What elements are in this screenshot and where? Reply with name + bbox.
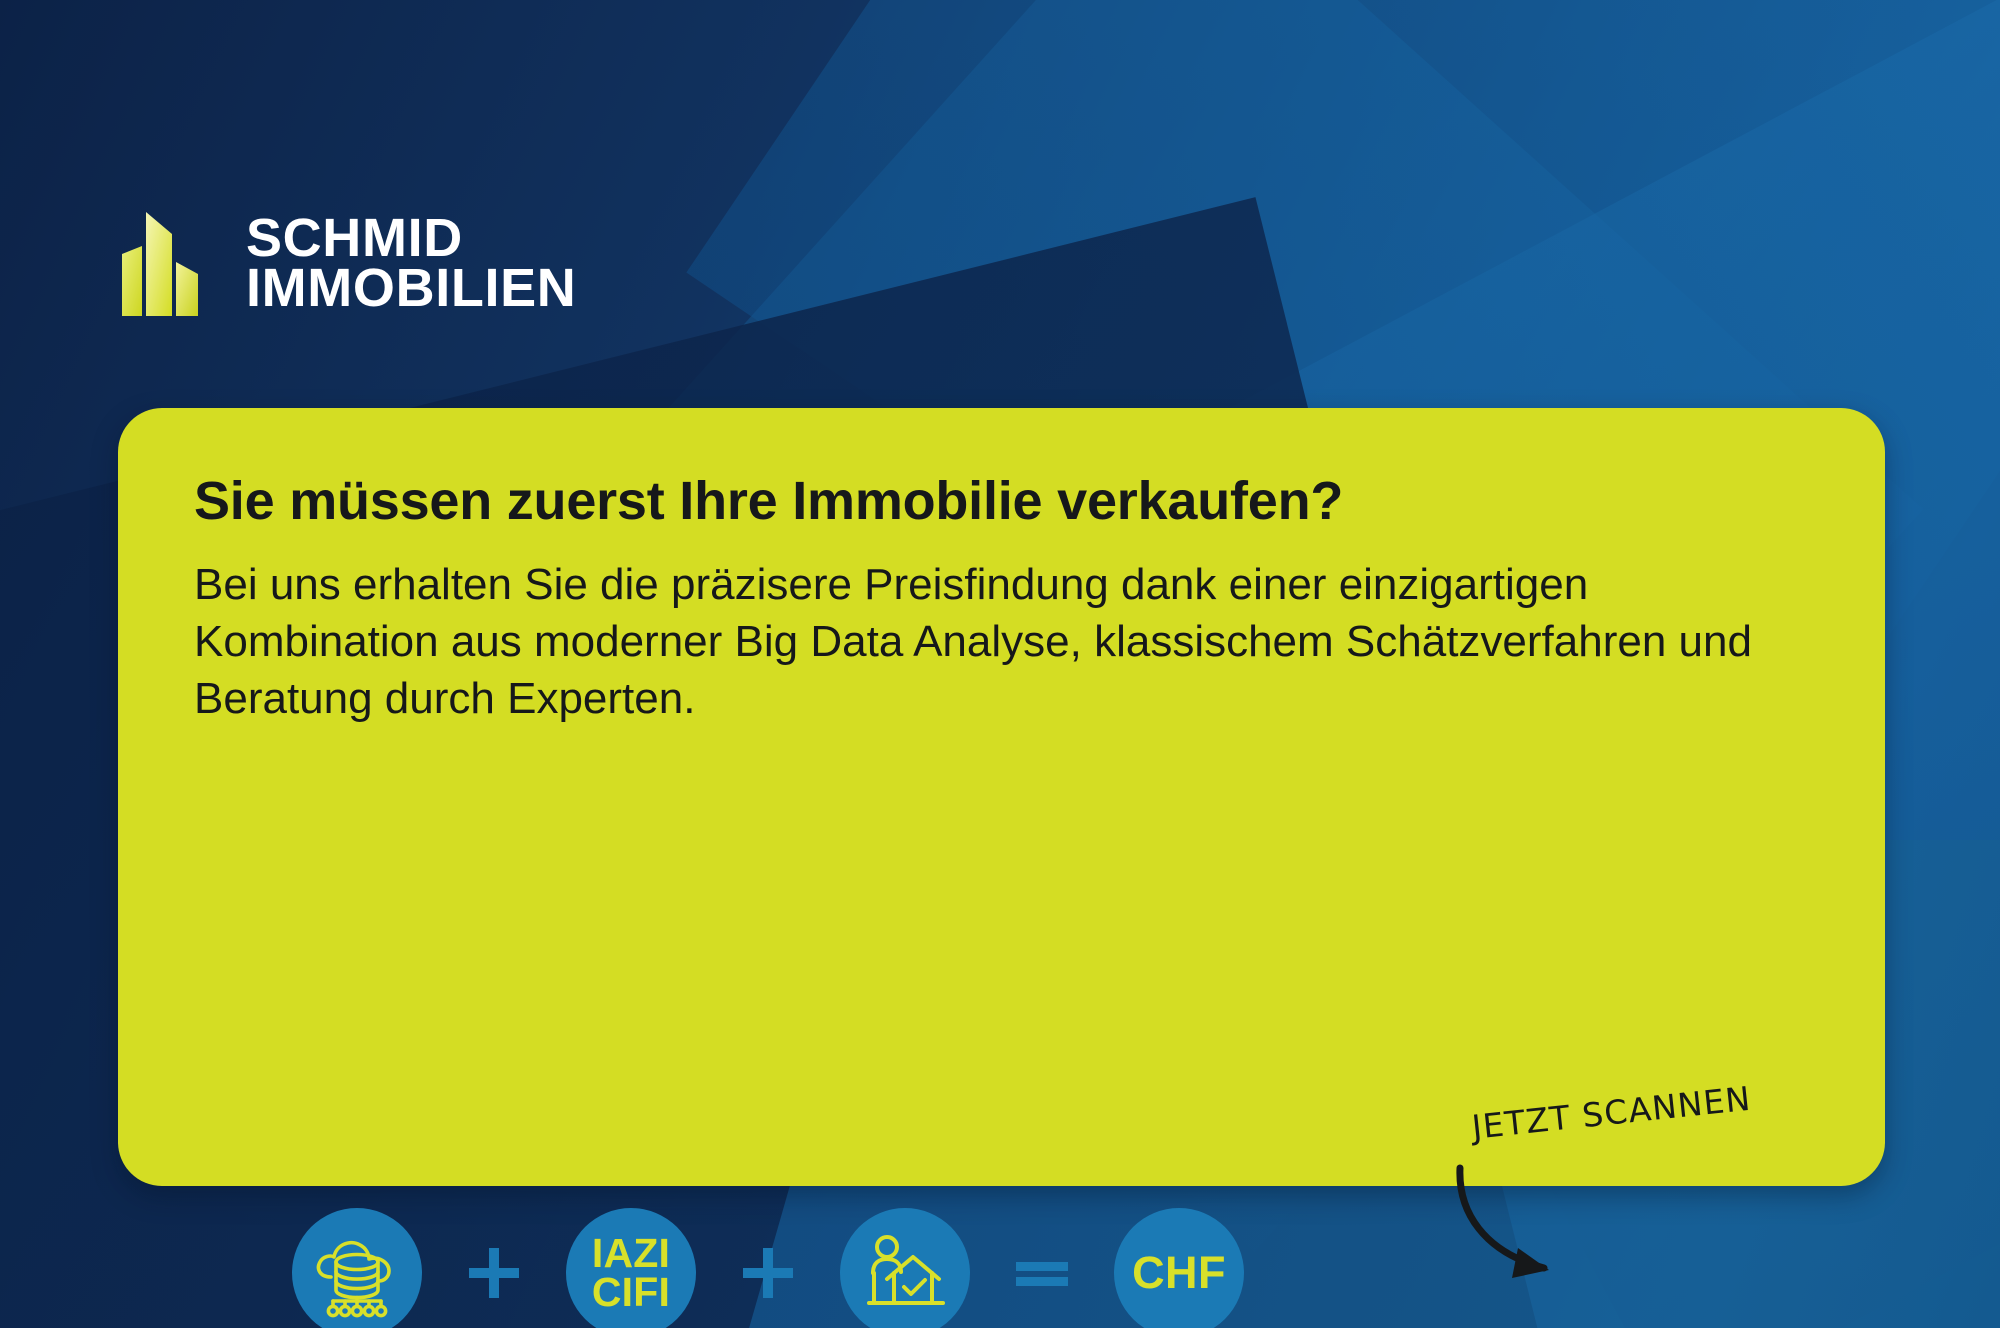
chf-text: CHF (1132, 1251, 1226, 1294)
scan-callout: JETZT SCANNEN (1448, 1108, 1868, 1328)
operator-plus-1 (446, 1208, 542, 1328)
building-logo-icon (120, 210, 216, 318)
brand-logo: SCHMID IMMOBILIEN (120, 210, 576, 318)
formula-item-hedonic: IAZI CIFI Hedonische Bewertung (542, 1208, 720, 1328)
page-title: Sie müssen zuerst Ihre Immobilie verkauf… (194, 470, 1815, 532)
curved-arrow-icon (1448, 1156, 1618, 1311)
brand-wordmark: SCHMID IMMOBILIEN (246, 214, 576, 313)
card-body-text: Bei uns erhalten Sie die präzisere Preis… (194, 556, 1784, 728)
brand-name-line2: IMMOBILIEN (246, 264, 576, 314)
valuation-formula: Big Data Analyse IAZI CIFI Hedonische Be… (268, 1208, 1268, 1328)
qr-code-icon[interactable] (1674, 1218, 1942, 1328)
formula-item-price: CHF Optimaler Verkaufspreis (1090, 1208, 1268, 1328)
poster-canvas: SCHMID IMMOBILIEN Sie müssen zuerst Ihre… (0, 0, 2000, 1328)
chf-currency-icon: CHF (1114, 1208, 1244, 1328)
iazi-cifi-wordmark-icon: IAZI CIFI (566, 1208, 696, 1328)
formula-item-big-data: Big Data Analyse (268, 1208, 446, 1328)
cifi-line: CIFI (592, 1273, 670, 1312)
offer-card: Sie müssen zuerst Ihre Immobilie verkauf… (118, 408, 1885, 1186)
formula-item-expert: Experten Bewertung (816, 1208, 994, 1328)
person-house-check-icon (840, 1208, 970, 1328)
operator-plus-2 (720, 1208, 816, 1328)
iazi-cifi-text: IAZI CIFI (592, 1234, 670, 1313)
brand-name-line1: SCHMID (246, 214, 576, 264)
offer-card-content: Sie müssen zuerst Ihre Immobilie verkauf… (118, 408, 1885, 1186)
operator-equals (994, 1208, 1090, 1328)
iazi-line: IAZI (592, 1234, 670, 1273)
cloud-database-network-icon (292, 1208, 422, 1328)
